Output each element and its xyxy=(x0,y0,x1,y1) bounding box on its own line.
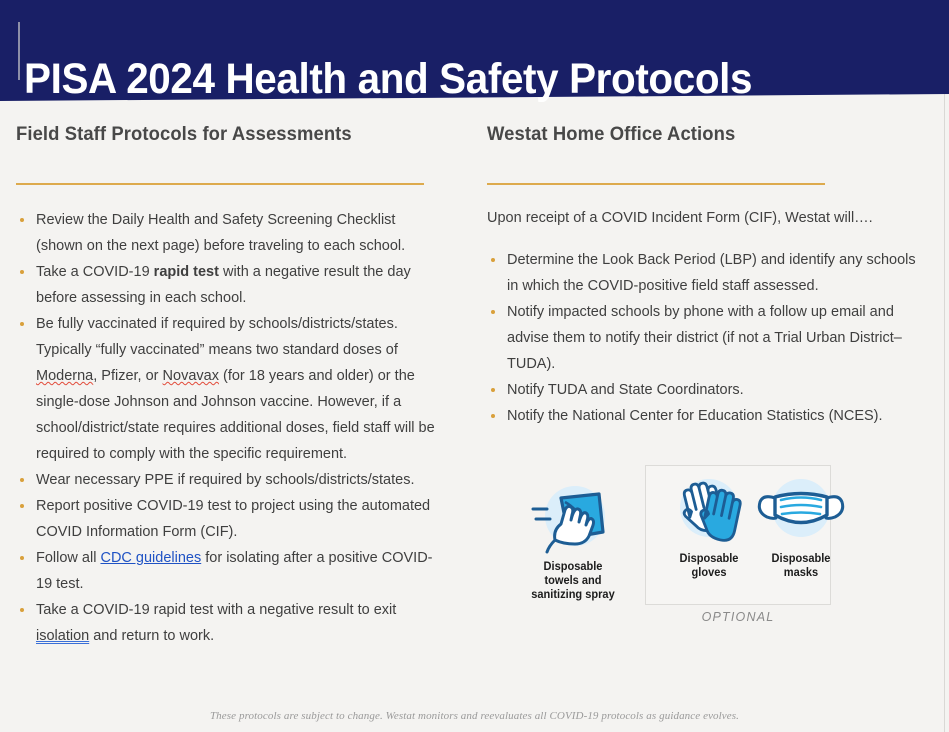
field-staff-protocol-item: Be fully vaccinated if required by schoo… xyxy=(16,311,446,467)
flagged-text: Novavax xyxy=(163,368,219,384)
page-title: PISA 2024 Health and Safety Protocols xyxy=(24,50,752,108)
title-accent-bar xyxy=(18,22,20,80)
field-staff-protocol-list: Review the Daily Health and Safety Scree… xyxy=(16,207,446,649)
left-column: Field Staff Protocols for Assessments Re… xyxy=(16,124,446,649)
emphasis-text: rapid test xyxy=(154,264,219,280)
ppe-card-towels-caption: Disposable towels and sanitizing spray xyxy=(523,560,623,602)
right-column-heading: Westat Home Office Actions xyxy=(487,124,914,146)
page-edge-divider xyxy=(944,0,945,732)
right-column-divider xyxy=(487,183,825,185)
left-column-divider xyxy=(16,183,424,185)
ppe-icon-strip: Disposable towels and sanitizing spray xyxy=(505,460,845,630)
caption-line: Disposable xyxy=(523,560,623,574)
cleaning-wipe-icon xyxy=(525,478,621,558)
ppe-card-gloves-caption: Disposable gloves xyxy=(659,552,759,580)
face-mask-icon xyxy=(753,470,849,550)
field-staff-protocol-item: Take a COVID-19 rapid test with a negati… xyxy=(16,259,446,311)
footer-disclaimer: These protocols are subject to change. W… xyxy=(0,710,949,722)
left-column-heading: Field Staff Protocols for Assessments xyxy=(16,124,433,146)
ppe-card-masks-caption: Disposable masks xyxy=(751,552,851,580)
field-staff-protocol-item: Follow all CDC guidelines for isolating … xyxy=(16,545,446,597)
home-office-action-item: Notify impacted schools by phone with a … xyxy=(487,299,927,377)
flagged-text: Moderna xyxy=(36,368,93,384)
home-office-action-list: Determine the Look Back Period (LBP) and… xyxy=(487,247,927,429)
caption-line: Disposable xyxy=(659,552,759,566)
field-staff-protocol-item: Wear necessary PPE if required by school… xyxy=(16,467,446,493)
gloves-icon xyxy=(661,470,757,550)
home-office-action-item: Notify TUDA and State Coordinators. xyxy=(487,377,927,403)
ppe-card-gloves: Disposable gloves xyxy=(657,470,761,580)
caption-line: sanitizing spray xyxy=(523,588,623,602)
home-office-action-item: Determine the Look Back Period (LBP) and… xyxy=(487,247,927,299)
caption-line: towels and xyxy=(523,574,623,588)
field-staff-protocol-item: Take a COVID-19 rapid test with a negati… xyxy=(16,597,446,649)
home-office-intro: Upon receipt of a COVID Incident Form (C… xyxy=(487,207,927,229)
inline-link[interactable]: CDC guidelines xyxy=(100,550,201,566)
home-office-action-item: Notify the National Center for Education… xyxy=(487,403,927,429)
field-staff-protocol-item: Report positive COVID-19 test to project… xyxy=(16,493,446,545)
ppe-card-towels: Disposable towels and sanitizing spray xyxy=(521,478,625,602)
slide-canvas: PISA 2024 Health and Safety Protocols Fi… xyxy=(0,0,949,732)
right-column: Westat Home Office Actions Upon receipt … xyxy=(487,124,927,429)
ppe-card-masks: Disposable masks xyxy=(749,470,853,580)
field-staff-protocol-item: Review the Daily Health and Safety Scree… xyxy=(16,207,446,259)
caption-line: Disposable xyxy=(751,552,851,566)
optional-label: OPTIONAL xyxy=(645,610,831,624)
flagged-text: isolation xyxy=(36,628,89,644)
caption-line: masks xyxy=(751,566,851,580)
caption-line: gloves xyxy=(659,566,759,580)
